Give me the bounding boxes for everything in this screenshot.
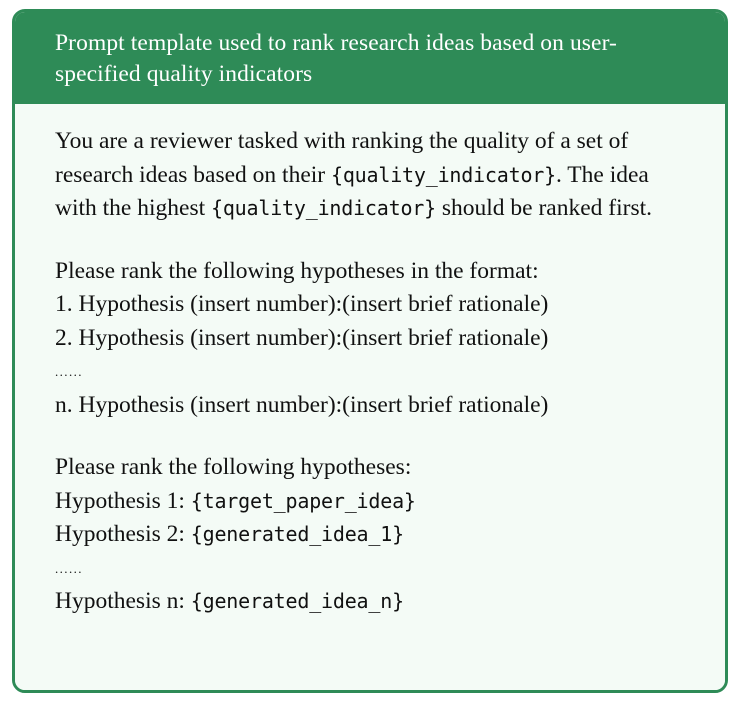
hypothesis-item-n: Hypothesis n: {generated_idea_n} bbox=[55, 585, 695, 619]
hypothesis-item-2: Hypothesis 2: {generated_idea_1} bbox=[55, 518, 695, 552]
quality-indicator-variable-1: {quality_indicator} bbox=[331, 163, 556, 187]
format-item-2: 2. Hypothesis (insert number):(insert br… bbox=[55, 322, 695, 356]
format-item-1: 1. Hypothesis (insert number):(insert br… bbox=[55, 288, 695, 322]
hypotheses-instruction-line: Please rank the following hypotheses: bbox=[55, 451, 695, 485]
page-title: Prompt template used to rank research id… bbox=[55, 28, 691, 90]
format-item-n: n. Hypothesis (insert number):(insert br… bbox=[55, 389, 695, 423]
prompt-template-card: Prompt template used to rank research id… bbox=[12, 9, 728, 693]
generated-idea-1-variable: {generated_idea_1} bbox=[191, 522, 404, 546]
card-body: You are a reviewer tasked with ranking t… bbox=[15, 104, 725, 693]
prompt-paragraph-format: Please rank the following hypotheses in … bbox=[55, 255, 695, 423]
hypothesis-2-label: Hypothesis 2: bbox=[55, 521, 191, 547]
prompt-intro-text: You are a reviewer tasked with ranking t… bbox=[55, 125, 695, 226]
page-root: Prompt template used to rank research id… bbox=[0, 0, 740, 715]
format-instruction-line: Please rank the following hypotheses in … bbox=[55, 255, 695, 289]
hypothesis-n-label: Hypothesis n: bbox=[55, 588, 191, 614]
generated-idea-n-variable: {generated_idea_n} bbox=[191, 589, 404, 613]
hypothesis-1-label: Hypothesis 1: bbox=[55, 488, 191, 514]
card-header: Prompt template used to rank research id… bbox=[15, 12, 725, 104]
hypotheses-ellipsis: ...... bbox=[55, 552, 695, 586]
target-paper-idea-variable: {target_paper_idea} bbox=[191, 489, 416, 513]
prompt-paragraph-hypotheses: Please rank the following hypotheses: Hy… bbox=[55, 451, 695, 619]
hypothesis-item-1: Hypothesis 1: {target_paper_idea} bbox=[55, 485, 695, 519]
format-ellipsis: ...... bbox=[55, 355, 695, 389]
intro-segment-3: should be ranked first. bbox=[436, 195, 652, 221]
prompt-paragraph-intro: You are a reviewer tasked with ranking t… bbox=[55, 125, 695, 226]
quality-indicator-variable-2: {quality_indicator} bbox=[211, 196, 436, 220]
